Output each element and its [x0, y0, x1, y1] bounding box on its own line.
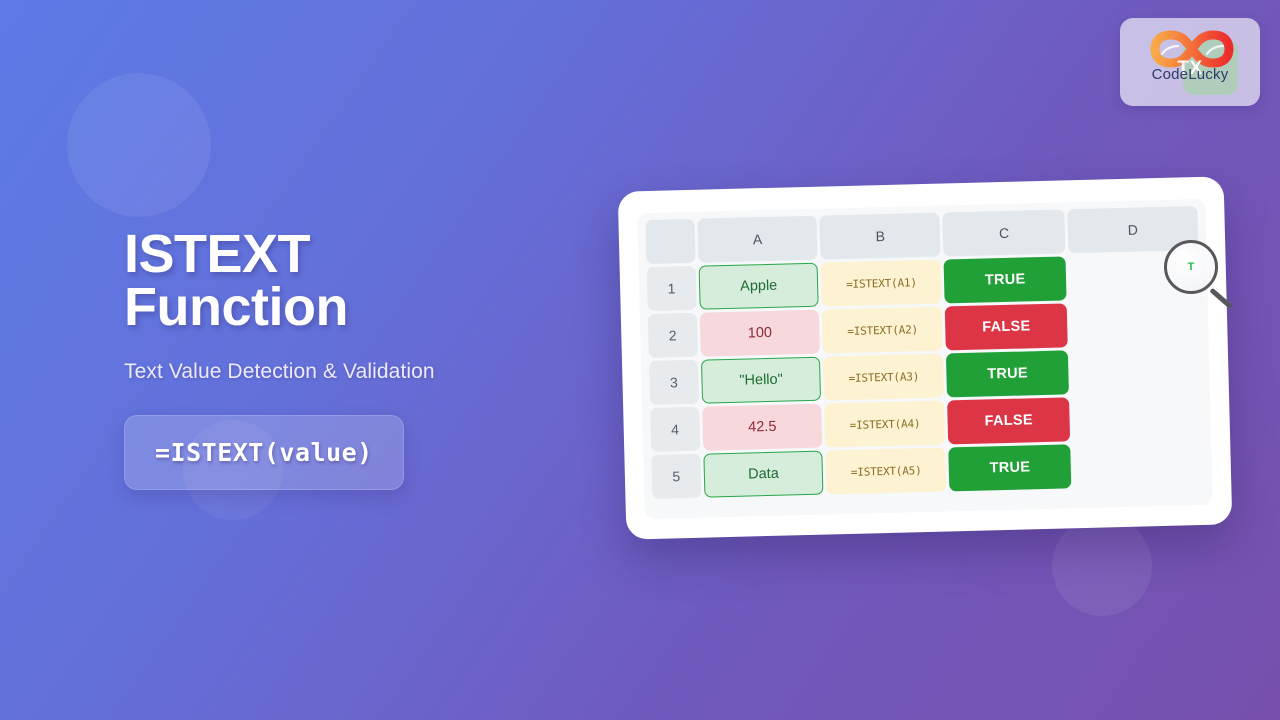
column-header-a[interactable]: A [697, 216, 818, 263]
cell-b5[interactable]: =ISTEXT(A5) [826, 448, 947, 495]
magnifier-handle [1210, 288, 1233, 309]
cell-b3[interactable]: =ISTEXT(A3) [823, 354, 944, 401]
cell-a3[interactable]: "Hello" [701, 357, 822, 404]
page-title: ISTEXT Function [124, 228, 594, 334]
cell-c2[interactable]: FALSE [945, 303, 1068, 350]
decorative-circle-top-left [67, 73, 211, 217]
hero-section: ISTEXT Function Text Value Detection & V… [124, 228, 594, 490]
cell-b2[interactable]: =ISTEXT(A2) [822, 307, 943, 354]
cell-a2[interactable]: 100 [700, 310, 821, 357]
title-line-2: Function [124, 281, 594, 334]
row-header-4[interactable]: 4 [650, 407, 700, 452]
row-header-3[interactable]: 3 [649, 360, 699, 405]
syntax-badge-label: =ISTEXT(value) [155, 438, 373, 467]
cell-b4[interactable]: =ISTEXT(A4) [825, 401, 946, 448]
cell-c3[interactable]: TRUE [946, 350, 1069, 397]
magnifier-lens: T [1164, 240, 1218, 294]
logo-brand-text: CodeLucky [1120, 66, 1260, 83]
cell-d3[interactable] [1071, 347, 1202, 394]
title-line-1: ISTEXT [124, 224, 310, 284]
grid-corner-cell [645, 219, 695, 264]
cell-d5[interactable] [1073, 441, 1204, 488]
spreadsheet-card: A B C D 1 Apple =ISTEXT(A1) TRUE 2 100 =… [618, 176, 1233, 539]
cell-c1[interactable]: TRUE [944, 256, 1067, 303]
column-header-b[interactable]: B [820, 213, 941, 260]
cell-b1[interactable]: =ISTEXT(A1) [821, 260, 942, 307]
cell-a1[interactable]: Apple [698, 263, 819, 310]
syntax-badge: =ISTEXT(value) [124, 415, 404, 490]
row-header-1[interactable]: 1 [647, 266, 697, 311]
row-header-5[interactable]: 5 [651, 454, 701, 499]
cell-c5[interactable]: TRUE [949, 444, 1072, 491]
cell-c4[interactable]: FALSE [947, 397, 1070, 444]
magnifying-glass-icon: T [1164, 240, 1236, 312]
decorative-circle-bottom-right [1052, 516, 1152, 616]
cell-a4[interactable]: 42.5 [702, 404, 823, 451]
row-header-2[interactable]: 2 [648, 313, 698, 358]
cell-a5[interactable]: Data [703, 451, 824, 498]
magnifier-lens-label: T [1167, 261, 1215, 273]
spreadsheet-table: A B C D 1 Apple =ISTEXT(A1) TRUE 2 100 =… [642, 203, 1207, 502]
spreadsheet-grid: A B C D 1 Apple =ISTEXT(A1) TRUE 2 100 =… [637, 199, 1213, 519]
brand-logo: TX CodeLucky [1120, 18, 1260, 106]
cell-d4[interactable] [1072, 394, 1203, 441]
column-header-c[interactable]: C [943, 209, 1066, 256]
page-subtitle: Text Value Detection & Validation [124, 360, 594, 384]
